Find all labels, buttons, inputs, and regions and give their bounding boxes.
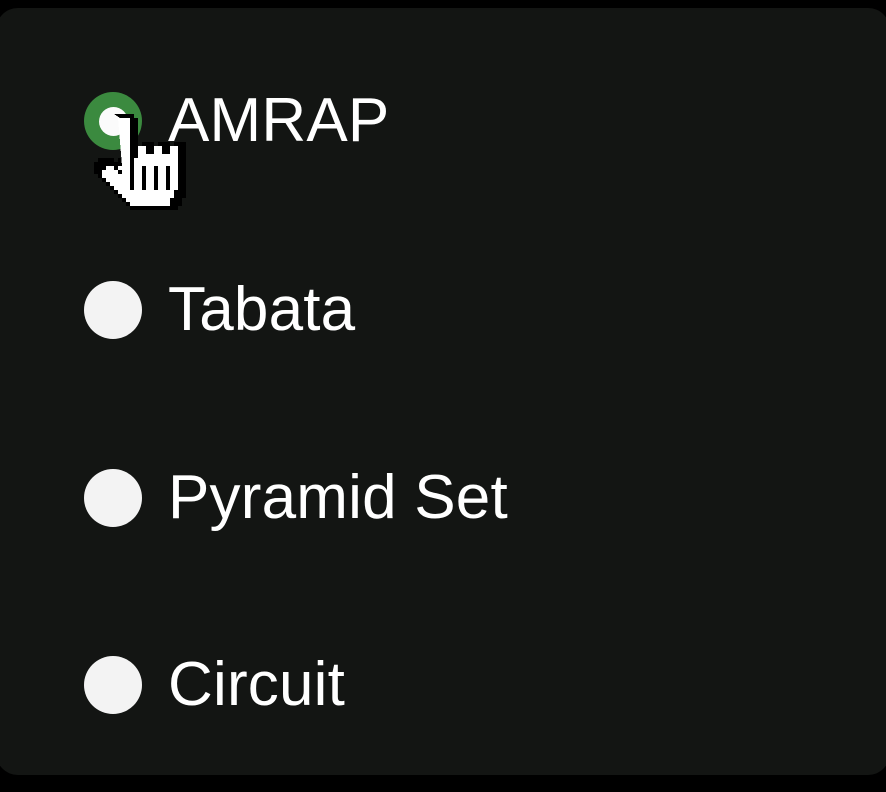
radio-option-pyramid-set[interactable]: Pyramid Set (84, 462, 508, 534)
radio-option-label: Circuit (168, 654, 345, 716)
radio-option-circuit[interactable]: Circuit (84, 649, 345, 721)
dialog-surface: AMRAPTabataPyramid SetCircuit (0, 8, 886, 775)
workout-type-radio-group[interactable]: AMRAPTabataPyramid SetCircuit (0, 8, 886, 775)
radio-option-amrap[interactable]: AMRAP (84, 85, 389, 157)
radio-unselected-icon[interactable] (84, 469, 142, 527)
radio-unselected-icon[interactable] (84, 656, 142, 714)
radio-option-label: Tabata (168, 279, 355, 341)
radio-option-tabata[interactable]: Tabata (84, 274, 355, 346)
radio-option-label: AMRAP (168, 90, 389, 152)
radio-option-label: Pyramid Set (168, 467, 508, 529)
radio-unselected-icon[interactable] (84, 281, 142, 339)
screen: AMRAPTabataPyramid SetCircuit (0, 0, 886, 792)
radio-selected-icon[interactable] (84, 92, 142, 150)
